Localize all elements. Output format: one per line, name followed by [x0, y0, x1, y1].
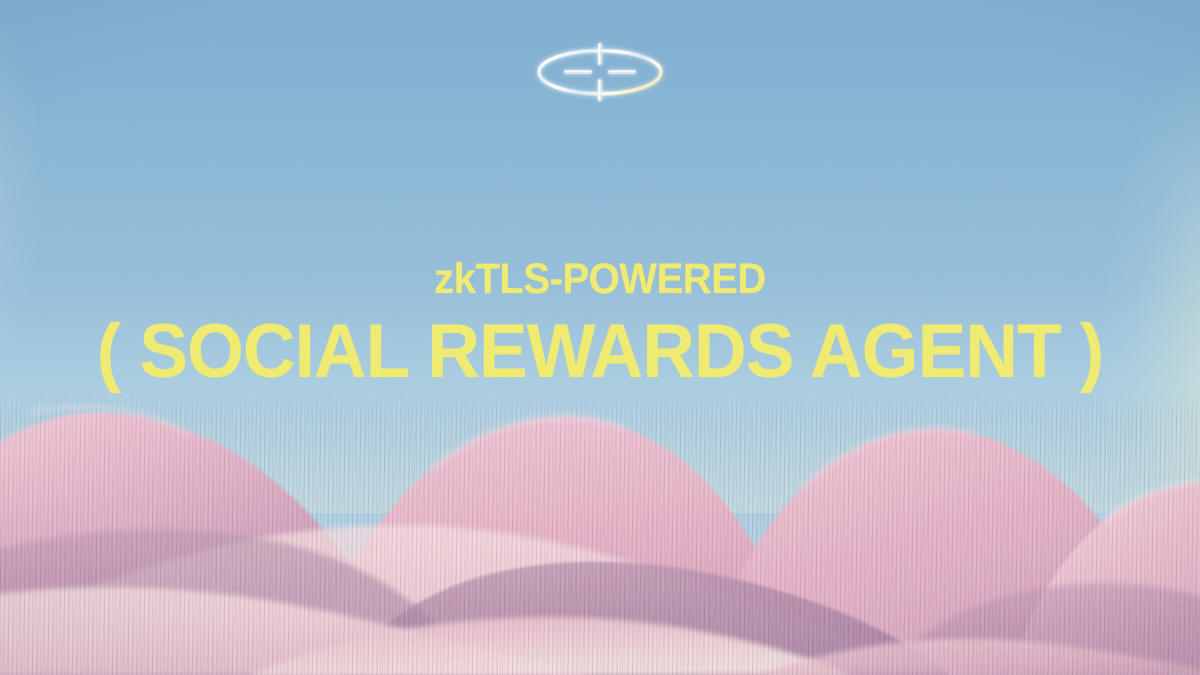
- page-title: ( SOCIAL REWARDS AGENT ): [24, 314, 1176, 390]
- hero-eyebrow: zkTLS-POWERED: [42, 258, 1158, 301]
- hero-scene: zkTLS-POWERED ( SOCIAL REWARDS AGENT ): [0, 0, 1200, 675]
- hero-copy: zkTLS-POWERED ( SOCIAL REWARDS AGENT ): [0, 258, 1200, 390]
